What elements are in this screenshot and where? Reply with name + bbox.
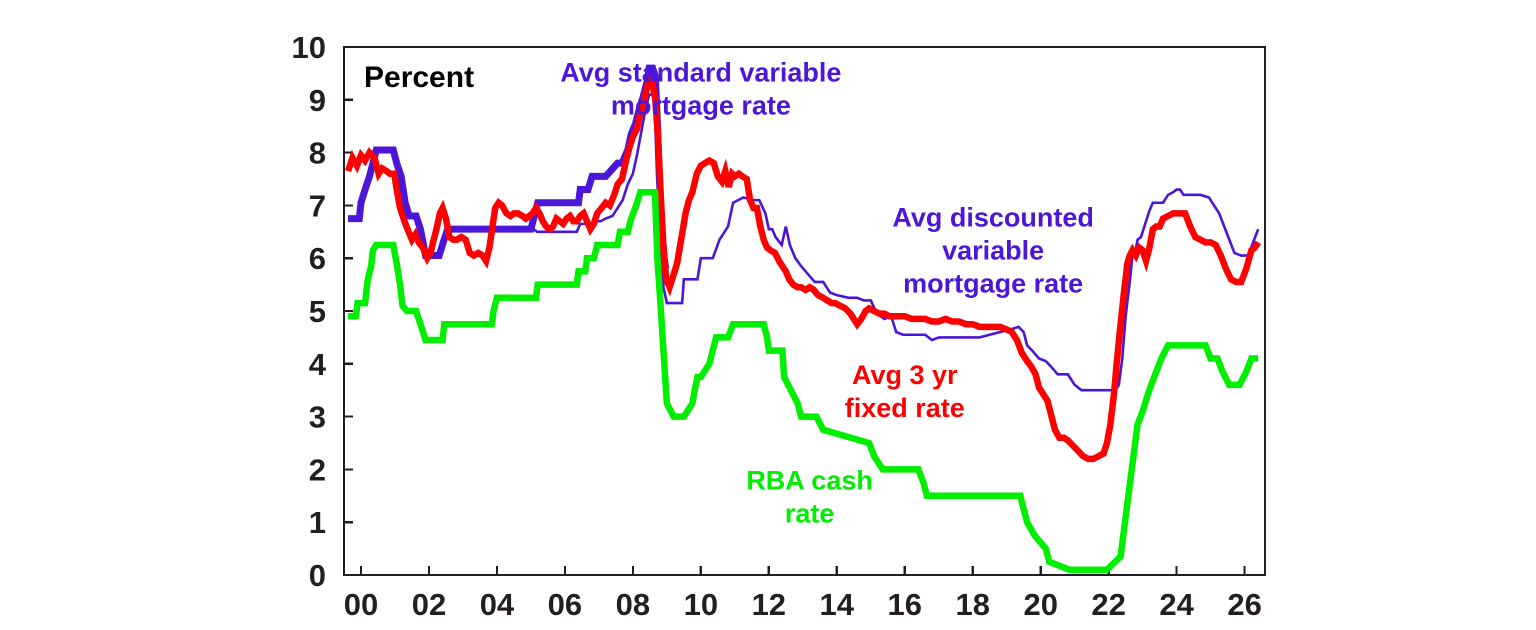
x-tick-label: 16: [888, 587, 922, 622]
y-tick-label: 2: [309, 452, 326, 487]
series-label-line: mortgage rate: [611, 90, 791, 120]
rates-line-chart: 012345678910 000204060810121416182022242…: [0, 0, 1536, 630]
series-label-line: Avg 3 yr: [852, 360, 958, 390]
y-tick-label: 9: [309, 83, 326, 118]
x-tick-label: 02: [412, 587, 446, 622]
y-tick-label: 0: [309, 558, 326, 593]
series-label-discounted_variable: Avg discountedvariablemortgage rate: [892, 203, 1094, 299]
y-axis-ticks: [344, 47, 353, 575]
x-tick-label: 14: [820, 587, 855, 622]
units-label: Percent: [364, 61, 474, 94]
series-label-line: rate: [785, 498, 835, 528]
series-line-discounted_variable: [348, 95, 1258, 391]
series-label-line: fixed rate: [845, 393, 965, 423]
x-tick-label: 22: [1091, 587, 1125, 622]
x-tick-label: 26: [1227, 587, 1261, 622]
series-label-standard_variable: Avg standard variablemortgage rate: [560, 57, 841, 120]
series-label-fixed_3yr: Avg 3 yrfixed rate: [845, 360, 965, 423]
x-tick-label: 04: [480, 587, 515, 622]
y-tick-label: 7: [309, 188, 326, 223]
y-tick-label: 1: [309, 505, 326, 540]
x-axis-labels: 0002040608101214161820222426: [344, 587, 1262, 622]
y-tick-label: 10: [292, 30, 326, 65]
x-tick-label: 12: [752, 587, 786, 622]
y-axis-labels: 012345678910: [292, 30, 327, 593]
x-tick-label: 20: [1023, 587, 1057, 622]
y-tick-label: 8: [309, 136, 326, 171]
series-label-line: RBA cash: [746, 465, 873, 495]
y-tick-label: 6: [309, 241, 326, 276]
x-tick-label: 10: [684, 587, 718, 622]
y-tick-label: 3: [309, 400, 326, 435]
x-tick-label: 18: [955, 587, 989, 622]
series-label-line: Avg standard variable: [560, 57, 841, 87]
y-tick-label: 5: [309, 294, 326, 329]
y-tick-label: 4: [309, 347, 327, 382]
x-tick-label: 06: [548, 587, 582, 622]
series-label-line: mortgage rate: [903, 269, 1083, 299]
x-tick-label: 24: [1159, 587, 1194, 622]
series-label-cash_rate: RBA cashrate: [746, 465, 873, 528]
series-label-line: Avg discounted: [892, 203, 1094, 233]
x-tick-label: 08: [616, 587, 650, 622]
series-label-line: variable: [942, 236, 1044, 266]
chart-container: 012345678910 000204060810121416182022242…: [0, 0, 1536, 630]
x-tick-label: 00: [344, 587, 378, 622]
